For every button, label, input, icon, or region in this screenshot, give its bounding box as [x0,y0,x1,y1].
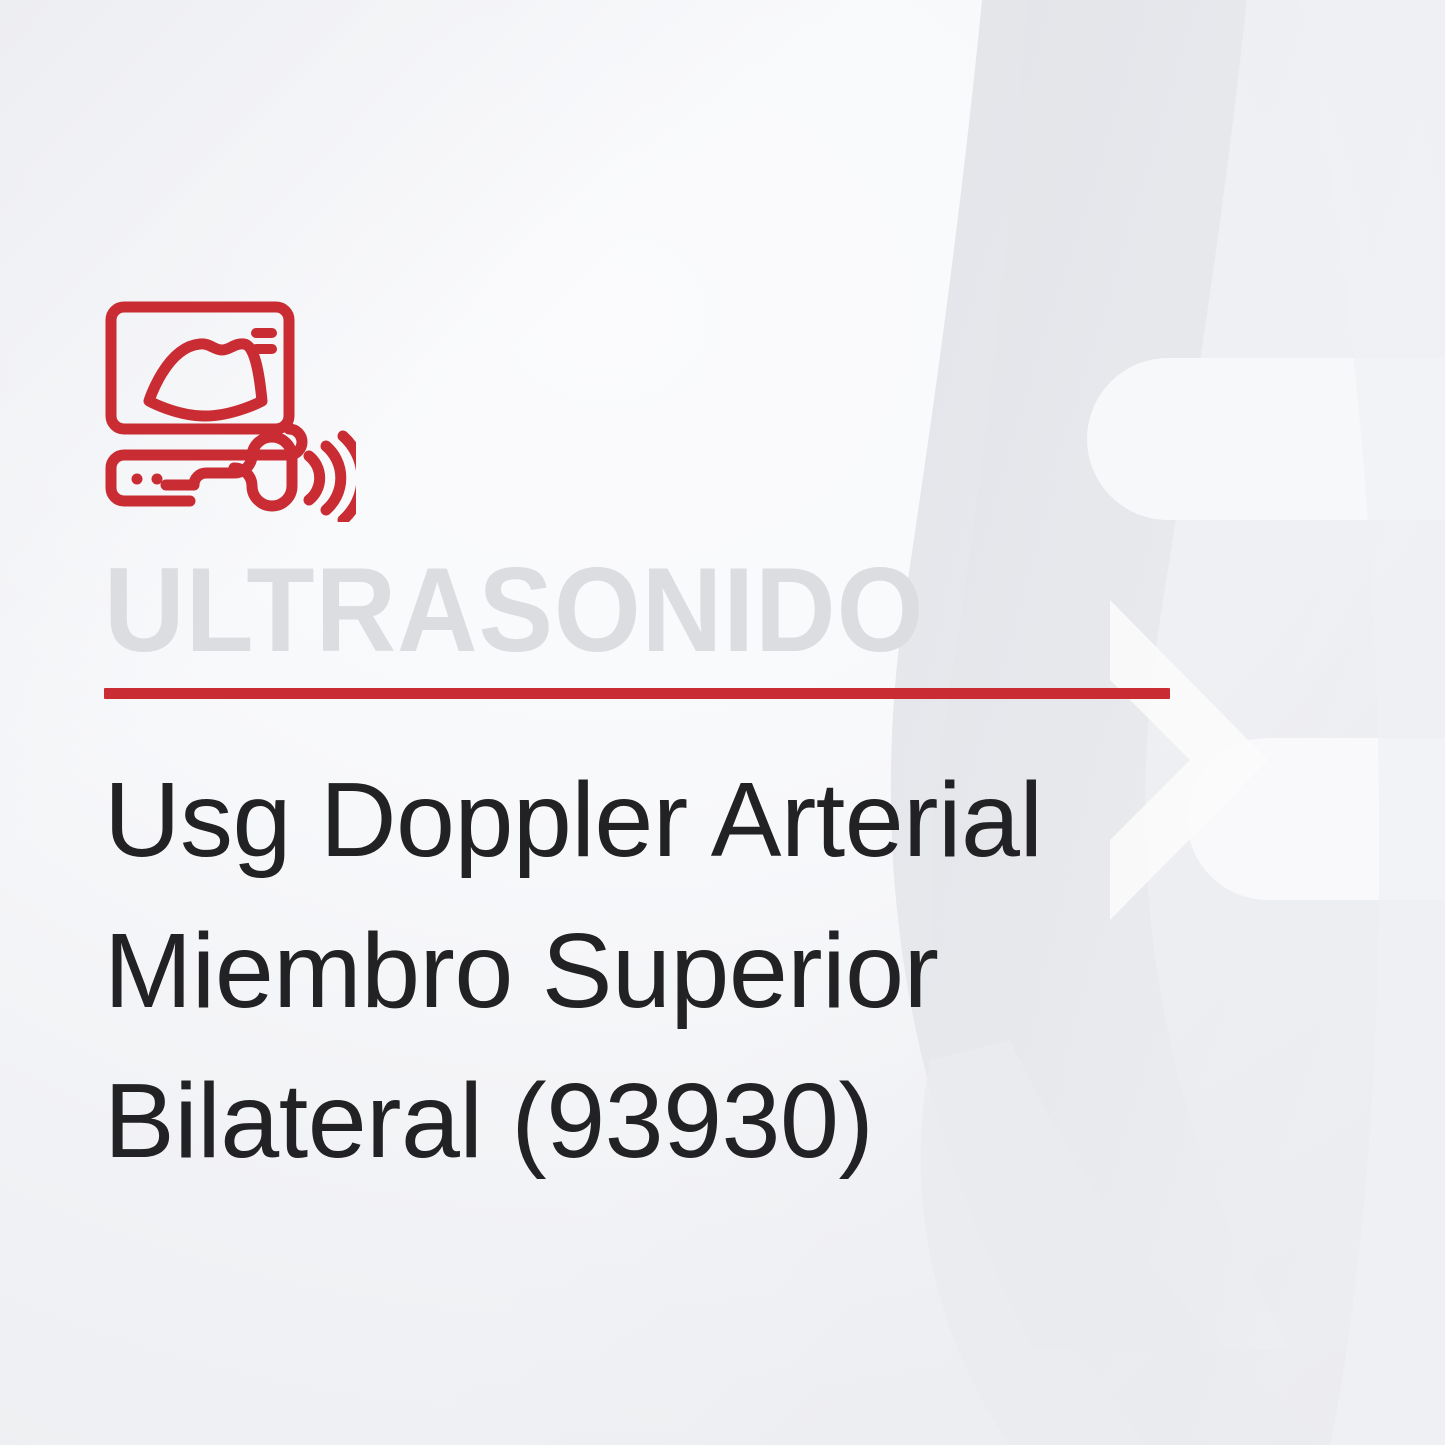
card-content: ULTRASONIDO Usg Doppler Arterial Miembro… [104,300,1254,1197]
title-line-2: Miembro Superior [104,896,1254,1047]
service-card: ULTRASONIDO Usg Doppler Arterial Miembro… [0,0,1445,1445]
page-title: Usg Doppler Arterial Miembro Superior Bi… [104,745,1254,1197]
title-line-1: Usg Doppler Arterial [104,745,1254,896]
ultrasound-machine-icon [104,300,356,522]
red-divider-rule [104,688,1170,699]
title-line-3: Bilateral (93930) [104,1046,1254,1197]
category-label: ULTRASONIDO [104,550,1174,670]
